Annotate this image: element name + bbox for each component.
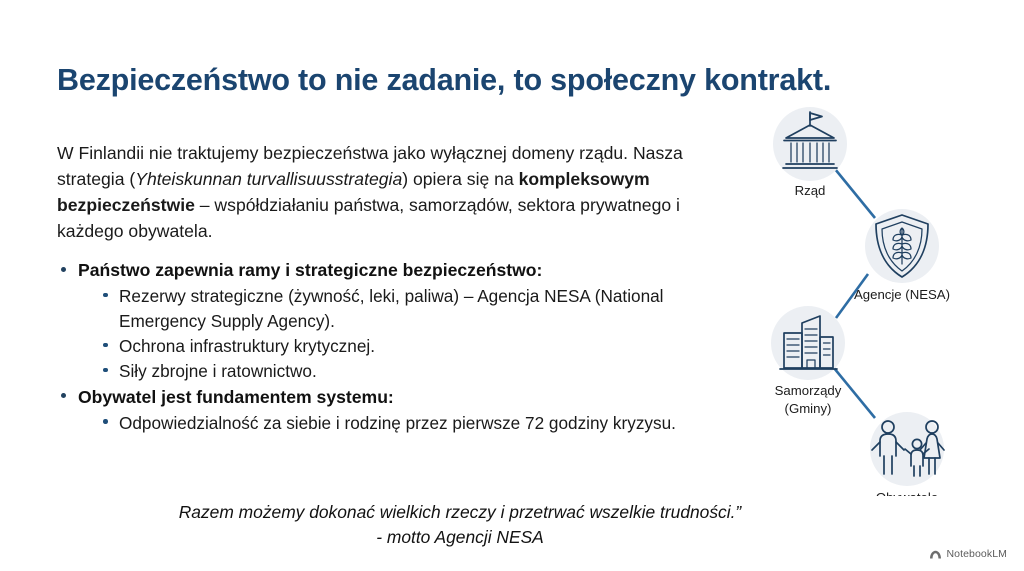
quote-attribution: - motto Agencji NESA (60, 525, 860, 550)
list-item: Rezerwy strategiczne (żywność, leki, pal… (102, 284, 729, 334)
quote-block: Razem możemy dokonać wielkich rzeczy i p… (60, 500, 860, 549)
sub-bullet-label: Ochrona infrastruktury krytycznej. (119, 334, 729, 359)
sub-bullet-label: Siły zbrojne i ratownictwo. (119, 359, 729, 384)
bullet-marker-icon (61, 393, 66, 398)
bullet-label: Obywatel jest fundamentem systemu: (78, 385, 729, 411)
bullet-list: Państwo zapewnia ramy i strategiczne bez… (57, 258, 729, 435)
sub-bullet-label: Rezerwy strategiczne (żywność, leki, pal… (119, 284, 729, 334)
bullet-marker-icon (61, 267, 66, 272)
content-column: W Finlandii nie traktujemy bezpieczeństw… (57, 140, 729, 437)
list-item: Siły zbrojne i ratownictwo. (102, 359, 729, 384)
node-label-rzad: Rząd (795, 183, 826, 198)
intro-paragraph: W Finlandii nie traktujemy bezpieczeństw… (57, 140, 729, 244)
bullet-marker-icon (103, 368, 108, 373)
notebooklm-logo-icon (929, 549, 942, 560)
intro-italic-term: Yhteiskunnan turvallisuusstrategia (135, 169, 402, 189)
node-label-obywatele: Obywatele (876, 490, 938, 496)
watermark-label: NotebookLM (946, 548, 1007, 560)
list-item: Obywatel jest fundamentem systemu: Odpow… (57, 385, 729, 436)
node-circle-obywatele (870, 412, 944, 486)
notebooklm-watermark: NotebookLM (929, 548, 1007, 560)
intro-part2: ) opiera się na (402, 169, 518, 189)
quote-text: Razem możemy dokonać wielkich rzeczy i p… (179, 502, 741, 522)
node-label-agencje: Agencje (NESA) (854, 287, 950, 302)
node-label-samorzady: Samorządy (775, 383, 842, 398)
sub-bullet-list: Odpowiedzialność za siebie i rodzinę prz… (78, 411, 729, 436)
stakeholder-diagram: Rząd Agencje (NESA) (742, 96, 1024, 496)
bullet-marker-icon (103, 419, 108, 424)
link-rzad-agencje (835, 169, 875, 218)
slide-canvas: Bezpieczeństwo to nie zadanie, to społec… (0, 0, 1024, 571)
bullet-label: Państwo zapewnia ramy i strategiczne bez… (78, 258, 729, 284)
sub-bullet-label: Odpowiedzialność za siebie i rodzinę prz… (119, 411, 729, 436)
list-item: Ochrona infrastruktury krytycznej. (102, 334, 729, 359)
list-item: Państwo zapewnia ramy i strategiczne bez… (57, 258, 729, 384)
page-title: Bezpieczeństwo to nie zadanie, to społec… (57, 63, 977, 99)
bullet-marker-icon (103, 293, 108, 298)
list-item: Odpowiedzialność za siebie i rodzinę prz… (102, 411, 729, 436)
node-label-samorzady-sub: (Gminy) (785, 401, 832, 416)
bullet-marker-icon (103, 343, 108, 348)
sub-bullet-list: Rezerwy strategiczne (żywność, leki, pal… (78, 284, 729, 384)
